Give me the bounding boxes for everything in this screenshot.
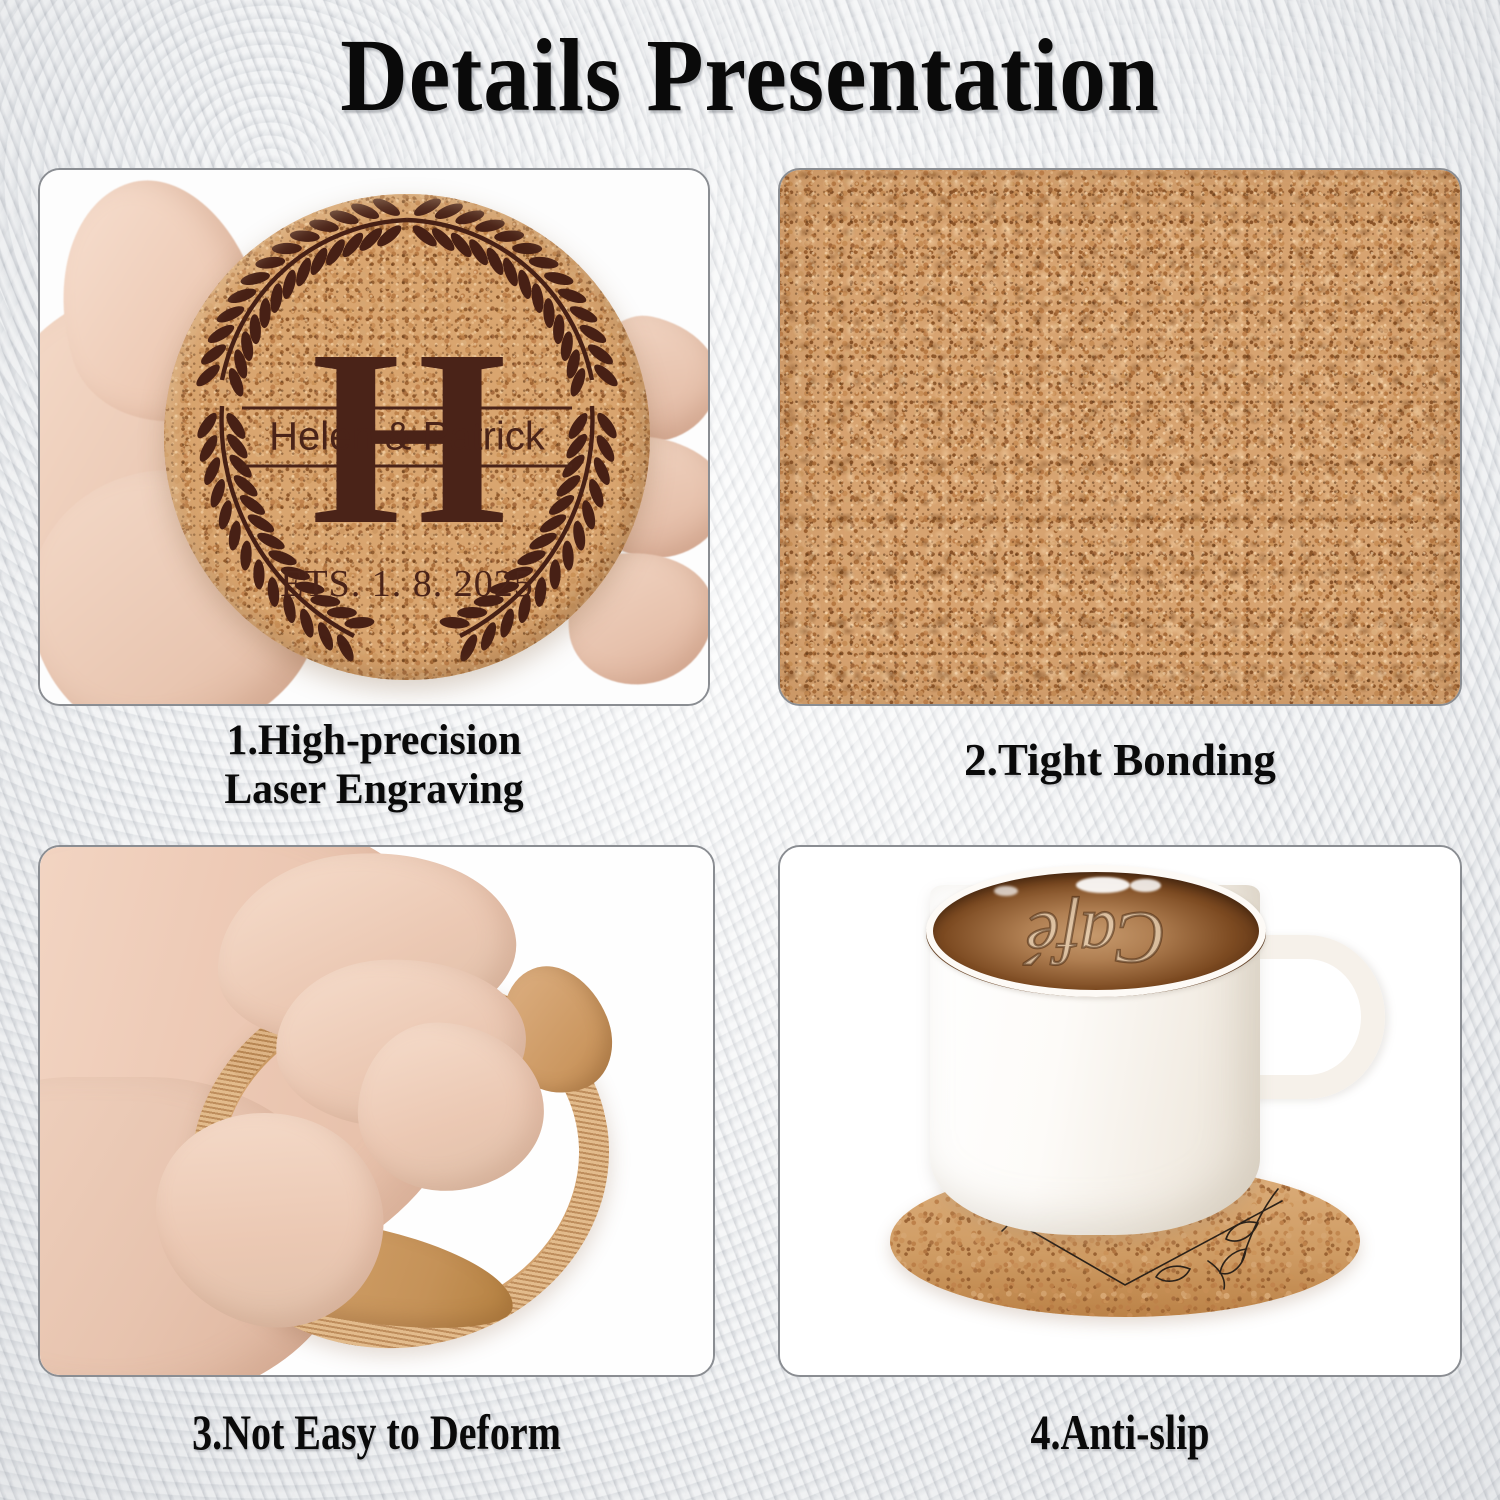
caption-panel-4: 4.Anti-slip	[846, 1404, 1393, 1461]
caption-panel-3: 3.Not Easy to Deform	[106, 1404, 648, 1461]
caption-1-line-1: 1.High-precision	[48, 716, 700, 765]
engraved-cork-coaster: H Helen & Patrick ETS. 1. 8. 2025	[164, 194, 650, 680]
feature-panel-3	[38, 845, 715, 1377]
caption-3-line-1: 3.Not Easy to Deform	[106, 1404, 648, 1461]
panel-3-scene	[40, 847, 713, 1375]
panel-1-scene: H Helen & Patrick ETS. 1. 8. 2025	[40, 170, 708, 704]
caption-panel-1: 1.High-precision Laser Engraving	[48, 716, 700, 814]
feature-panel-2	[778, 168, 1462, 706]
mug-rim	[926, 865, 1266, 997]
caption-4-line-1: 4.Anti-slip	[846, 1404, 1393, 1461]
caption-panel-2: 2.Tight Bonding	[778, 735, 1462, 786]
cork-edge-shading	[780, 170, 1460, 704]
panel-4-scene: Café	[780, 847, 1460, 1375]
product-detail-page: Details Presentation	[0, 0, 1500, 1500]
caption-1-line-2: Laser Engraving	[48, 765, 700, 814]
page-title: Details Presentation	[75, 24, 1425, 128]
panel-2-scene	[780, 170, 1460, 704]
caption-2-line-1: 2.Tight Bonding	[778, 735, 1462, 786]
feature-panel-4: Café	[778, 845, 1462, 1377]
feature-panel-1: H Helen & Patrick ETS. 1. 8. 2025	[38, 168, 710, 706]
coaster-edge-shading	[164, 194, 650, 680]
